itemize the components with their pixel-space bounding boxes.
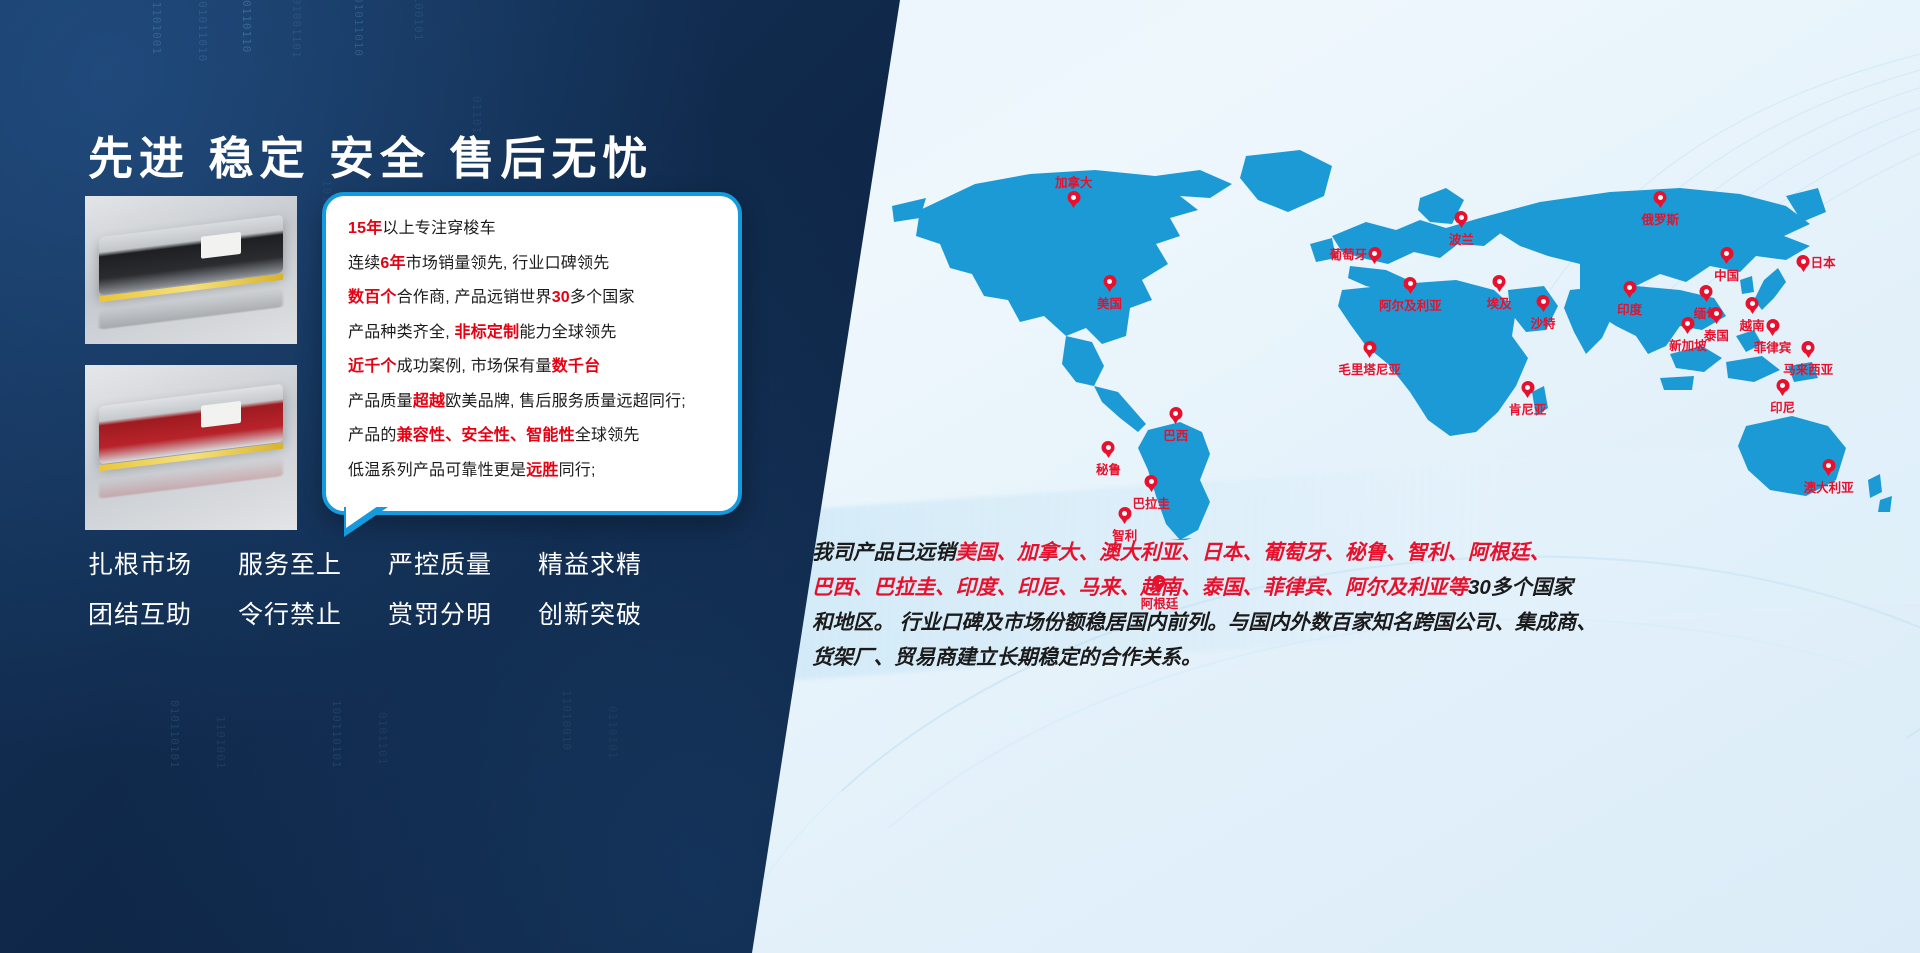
highlight-line: 连续6年市场销量领先, 行业口碑领先 [348,247,724,282]
product-photo-black-shuttle [85,196,297,344]
world-map: 加拿大美国巴西秘鲁巴拉圭智利阿根廷葡萄牙波兰阿尔及利亚埃及沙特毛里塔尼亚肯尼亚俄… [880,140,1900,540]
location-pin-icon [1797,255,1810,268]
map-pin-日本: 日本 [1797,255,1810,268]
highlights-callout-box: 15年以上专注穿梭车连续6年市场销量领先, 行业口碑领先数百个合作商, 产品远销… [322,192,742,515]
map-pin-新加坡: 新加坡 [1681,317,1694,330]
highlight-emphasis: 15年 [348,220,382,237]
highlight-line: 产品种类齐全, 非标定制能力全球领先 [348,316,724,351]
map-pin-label: 毛里塔尼亚 [1338,359,1401,378]
highlight-text: 合作商, 产品远销世界 [397,289,552,306]
slogan-item: 创新突破 [538,590,688,640]
map-pin-沙特: 沙特 [1537,295,1550,308]
highlight-text: 产品种类齐全, [348,324,455,341]
map-pin-肯尼亚: 肯尼亚 [1521,381,1534,394]
slogan-item: 团结互助 [88,590,238,640]
highlight-line: 产品质量超越欧美品牌, 售后服务质量远超同行; [348,385,724,420]
left-dark-panel: 01101001 1001011010 0110110 101001101 01… [0,0,900,953]
location-pin-icon [1521,381,1534,394]
shuttle-label [201,401,241,428]
map-pin-label: 沙特 [1530,313,1555,332]
slogan-item: 赏罚分明 [388,590,538,640]
highlight-emphasis: 30 [552,289,570,306]
map-pin-label: 日本 [1811,252,1836,271]
highlight-text: 市场销量领先, 行业口碑领先 [406,255,610,272]
map-pin-label: 葡萄牙 [1330,244,1368,263]
map-pin-阿尔及利亚: 阿尔及利亚 [1404,277,1417,290]
blurb-text: 和地区。 行业口碑及市场份额稳居国内前列。与国内外数百家知名跨国公司、集成商、 [812,611,1597,634]
map-pin-巴西: 巴西 [1169,407,1182,420]
blurb-text: 我司产品已远销 [812,541,956,564]
location-pin-icon [1822,459,1835,472]
map-pin-label: 印度 [1617,299,1642,318]
map-pin-label: 肯尼亚 [1509,399,1547,418]
highlight-text: 全球领先 [575,427,640,444]
location-pin-icon [1404,277,1417,290]
location-pin-icon [1118,507,1131,520]
code-rain-texture: 0101101 [376,712,389,816]
highlight-text: 产品质量 [348,393,413,410]
slogan-item: 扎根市场 [88,540,238,590]
slogan-item: 严控质量 [388,540,538,590]
world-map-svg [880,140,1900,540]
location-pin-icon [1681,317,1694,330]
highlight-text: 成功案例, 市场保有量 [397,358,552,375]
highlight-text: 低温系列产品可靠性更是 [348,462,526,479]
highlight-line: 近千个成功案例, 市场保有量数千台 [348,350,724,385]
map-pin-label: 埃及 [1487,293,1512,312]
country-list-text: 美国、加拿大、澳大利亚、日本、葡萄牙、秘鲁、智利、阿根廷、 [956,541,1551,564]
highlight-emphasis: 超越 [413,393,445,410]
location-pin-icon [1537,295,1550,308]
blurb-text: 货架厂、贸易商建立长期稳定的合作关系。 [812,646,1202,669]
location-pin-icon [1455,211,1468,224]
map-pin-秘鲁: 秘鲁 [1102,441,1115,454]
code-rain-texture: 1100101 [412,0,425,76]
map-pin-埃及: 埃及 [1493,275,1506,288]
shuttle-label [201,232,241,259]
slogan-item: 精益求精 [538,540,688,590]
page-title: 先进 稳定 安全 售后无忧 [88,122,654,187]
map-landmasses [892,150,1892,540]
code-rain-texture: 010110101 [168,700,181,830]
highlight-text: 能力全球领先 [519,324,616,341]
location-pin-icon [1720,247,1733,260]
location-pin-icon [1776,379,1789,392]
blurb-text: 30多个国家 [1468,576,1573,599]
promo-banner: 01101001 1001011010 0110110 101001101 01… [0,0,1920,953]
map-pin-葡萄牙: 葡萄牙 [1368,247,1381,260]
highlight-emphasis: 非标定制 [455,324,520,341]
map-pin-label: 中国 [1714,265,1739,284]
code-rain-texture: 01011010 [352,0,365,100]
map-pin-label: 加拿大 [1055,172,1093,191]
location-pin-icon [1802,341,1815,354]
map-pin-中国: 中国 [1720,247,1733,260]
highlights-list: 15年以上专注穿梭车连续6年市场销量领先, 行业口碑领先数百个合作商, 产品远销… [348,212,724,488]
location-pin-icon [1169,407,1182,420]
slogan-item: 服务至上 [238,540,388,590]
highlight-line: 数百个合作商, 产品远销世界30多个国家 [348,281,724,316]
location-pin-icon [1145,475,1158,488]
location-pin-icon [1700,285,1713,298]
map-pin-label: 印尼 [1770,397,1795,416]
highlight-text: 多个国家 [570,289,635,306]
map-pin-泰国: 泰国 [1710,307,1723,320]
company-slogans: 扎根市场服务至上严控质量精益求精团结互助令行禁止赏罚分明创新突破 [88,540,688,640]
slogan-row: 扎根市场服务至上严控质量精益求精 [88,540,688,590]
map-pin-label: 秘鲁 [1096,459,1121,478]
map-pin-label: 菲律宾 [1754,337,1792,356]
map-pin-label: 新加坡 [1669,335,1707,354]
location-pin-icon [1363,341,1376,354]
map-pin-label: 泰国 [1704,325,1729,344]
location-pin-icon [1368,247,1381,260]
export-description-paragraph: 我司产品已远销美国、加拿大、澳大利亚、日本、葡萄牙、秘鲁、智利、阿根廷、巴西、巴… [812,535,1882,675]
location-pin-icon [1102,441,1115,454]
highlight-line: 15年以上专注穿梭车 [348,212,724,247]
code-rain-texture: 0110110 [240,0,253,92]
slogan-row: 团结互助令行禁止赏罚分明创新突破 [88,590,688,640]
code-rain-texture: 11010010 [560,690,573,808]
map-pin-label: 马来西亚 [1783,359,1833,378]
location-pin-icon [1103,275,1116,288]
location-pin-icon [1067,191,1080,204]
map-pin-加拿大: 加拿大 [1067,191,1080,204]
map-pin-波兰: 波兰 [1455,211,1468,224]
highlight-line: 产品的兼容性、安全性、智能性全球领先 [348,419,724,454]
code-rain-texture: 0110101 [606,706,619,802]
map-pin-越南: 越南 [1746,297,1759,310]
location-pin-icon [1493,275,1506,288]
map-pin-label: 美国 [1097,293,1122,312]
shuttle-body [99,215,283,296]
highlight-line: 低温系列产品可靠性更是远胜同行; [348,454,724,489]
highlight-emphasis: 兼容性、安全性、智能性 [397,427,575,444]
highlight-text: 以上专注穿梭车 [382,220,495,237]
code-rain-texture: 1001011010 [196,0,209,136]
map-pin-label: 越南 [1740,315,1765,334]
location-pin-icon [1623,281,1636,294]
highlight-text: 欧美品牌, 售后服务质量远超同行; [445,393,686,410]
product-photo-red-shuttle [85,365,297,530]
code-rain-texture: 1101001 [214,716,227,826]
location-pin-icon [1710,307,1723,320]
map-pin-澳大利亚: 澳大利亚 [1822,459,1835,472]
highlight-text: 连续 [348,255,380,272]
map-pin-缅甸: 缅甸 [1700,285,1713,298]
callout-tail-inner [346,506,378,528]
code-rain-texture: 100110101 [330,700,343,828]
map-pin-印度: 印度 [1623,281,1636,294]
shuttle-body [99,384,283,465]
highlight-text: 产品的 [348,427,397,444]
highlight-emphasis: 近千个 [348,358,397,375]
map-pin-马来西亚: 马来西亚 [1802,341,1815,354]
highlight-text: 同行; [559,462,596,479]
highlight-emphasis: 数千台 [552,358,601,375]
map-pin-label: 俄罗斯 [1642,209,1680,228]
map-pin-智利: 智利 [1118,507,1131,520]
code-rain-texture: 101001101 [290,0,303,118]
highlight-emphasis: 6年 [380,255,405,272]
highlight-emphasis: 数百个 [348,289,397,306]
highlight-emphasis: 远胜 [526,462,558,479]
code-rain-texture: 01101001 [150,0,163,114]
map-pin-label: 波兰 [1449,229,1474,248]
map-pin-毛里塔尼亚: 毛里塔尼亚 [1363,341,1376,354]
map-pin-印尼: 印尼 [1776,379,1789,392]
map-pin-label: 阿尔及利亚 [1379,295,1442,314]
country-list-text: 巴西、巴拉圭、印度、印尼、马来、越南、泰国、菲律宾、阿尔及利亚等 [812,576,1468,599]
map-pin-label: 澳大利亚 [1804,477,1854,496]
map-pin-label: 巴拉圭 [1133,493,1171,512]
map-pin-label: 巴西 [1163,425,1188,444]
location-pin-icon [1746,297,1759,310]
map-pin-巴拉圭: 巴拉圭 [1145,475,1158,488]
slogan-item: 令行禁止 [238,590,388,640]
map-pin-俄罗斯: 俄罗斯 [1654,191,1667,204]
map-pin-美国: 美国 [1103,275,1116,288]
map-pin-菲律宾: 菲律宾 [1766,319,1779,332]
location-pin-icon [1766,319,1779,332]
location-pin-icon [1654,191,1667,204]
